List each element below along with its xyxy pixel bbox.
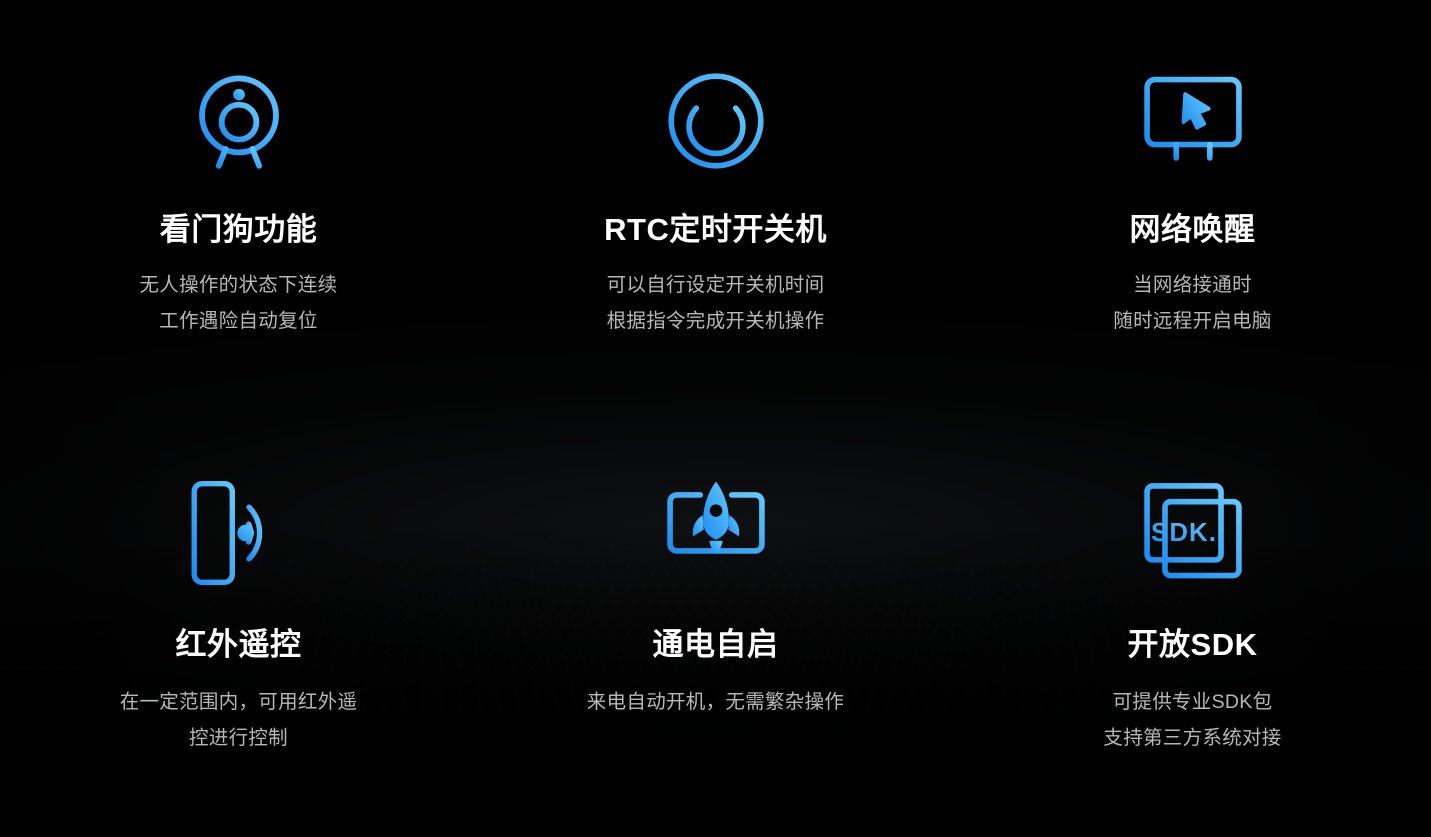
feature-description: 当网络接通时 随时远程开启电脑 (1113, 267, 1271, 339)
feature-title: 看门狗功能 (160, 214, 318, 245)
monitor-cursor-icon (1133, 60, 1253, 182)
feature-description: 可提供专业SDK包 支持第三方系统对接 (1103, 684, 1281, 756)
sdk-icon-label: SDK. (1151, 519, 1217, 547)
feature-card-auto-power-on: 通电自启 来电自动开机，无需繁杂操作 (477, 412, 954, 837)
feature-card-wake-on-lan: 网络唤醒 当网络接通时 随时远程开启电脑 (954, 0, 1431, 412)
sdk-windows-icon: SDK. (1133, 472, 1253, 594)
feature-grid: 看门狗功能 无人操作的状态下连续 工作遇险自动复位 (0, 0, 1431, 837)
feature-card-watchdog: 看门狗功能 无人操作的状态下连续 工作遇险自动复位 (0, 0, 477, 412)
feature-title: 红外遥控 (176, 629, 302, 660)
webcam-icon (179, 60, 299, 182)
power-icon (656, 60, 776, 182)
feature-title: 通电自启 (653, 629, 779, 660)
feature-description: 在一定范围内，可用红外遥 控进行控制 (120, 684, 358, 756)
feature-card-open-sdk: SDK. 开放SDK 可提供专业SDK包 支持第三方系统对接 (954, 412, 1431, 837)
feature-title: 开放SDK (1128, 629, 1258, 660)
feature-description: 无人操作的状态下连续 工作遇险自动复位 (139, 267, 337, 339)
feature-description: 可以自行设定开关机时间 根据指令完成开关机操作 (607, 267, 825, 339)
feature-title: 网络唤醒 (1130, 214, 1256, 245)
monitor-rocket-icon (656, 472, 776, 594)
feature-description: 来电自动开机，无需繁杂操作 (587, 684, 844, 720)
feature-showcase: 看门狗功能 无人操作的状态下连续 工作遇险自动复位 (0, 0, 1431, 837)
feature-title: RTC定时开关机 (604, 214, 827, 245)
remote-signal-icon (179, 472, 299, 594)
feature-card-rtc-timer: RTC定时开关机 可以自行设定开关机时间 根据指令完成开关机操作 (477, 0, 954, 412)
feature-card-ir-remote: 红外遥控 在一定范围内，可用红外遥 控进行控制 (0, 412, 477, 837)
